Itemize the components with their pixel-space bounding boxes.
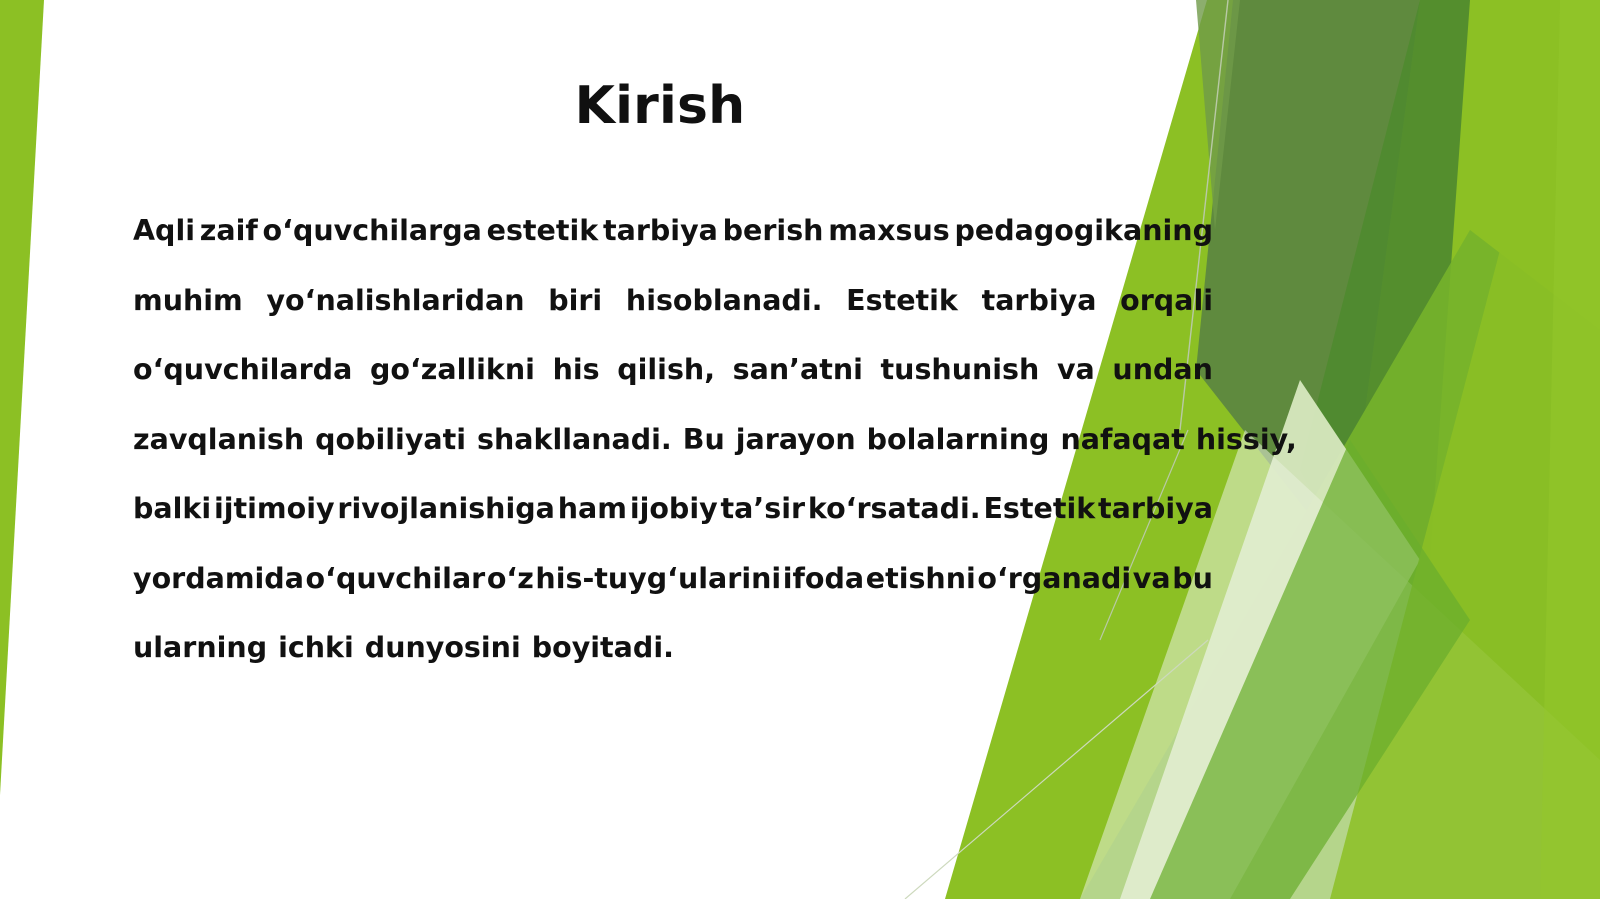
paragraph-word: maxsus (828, 212, 950, 250)
page-title: Kirish (0, 78, 1320, 135)
paragraph-word: rivojlanishiga (337, 490, 554, 528)
paragraph-word: etishni (866, 560, 976, 598)
slide-content: Kirish Aqlizaifo‘quvchilargaestetiktarbi… (0, 0, 1600, 899)
paragraph-line: o‘quvchilardago‘zalliknihisqilish,san’at… (133, 351, 1213, 421)
paragraph-word: jarayon (736, 421, 856, 459)
paragraph-word: va (1133, 560, 1171, 598)
paragraph-word: zaif (200, 212, 258, 250)
paragraph-word: estetik (487, 212, 599, 250)
paragraph-word: ichki (278, 629, 354, 667)
paragraph-word: muhim (133, 282, 243, 320)
paragraph-word: tarbiya (982, 282, 1097, 320)
paragraph-word: ham (558, 490, 627, 528)
paragraph-word: orqali (1120, 282, 1213, 320)
paragraph-word: yordamida (133, 560, 304, 598)
paragraph-word: o‘quvchilar (306, 560, 486, 598)
paragraph-word: pedagogikaning (955, 212, 1213, 250)
paragraph-word: o‘quvchilarga (263, 212, 482, 250)
paragraph-word: nafaqat (1060, 421, 1184, 459)
paragraph-word: hisoblanadi. (626, 282, 823, 320)
paragraph-word: undan (1112, 351, 1213, 389)
paragraph-line: balkiijtimoiyrivojlanishigahamijobiyta’s… (133, 490, 1213, 560)
presentation-slide: Kirish Aqlizaifo‘quvchilargaestetiktarbi… (0, 0, 1600, 899)
paragraph-word: Estetik (846, 282, 958, 320)
paragraph-word: ifoda (783, 560, 864, 598)
paragraph-word: qobiliyati (315, 421, 466, 459)
paragraph-word: o‘rganadi (977, 560, 1131, 598)
paragraph-word: berish (723, 212, 824, 250)
paragraph-word: hissiy, (1196, 421, 1297, 459)
paragraph-word: ijobiy (630, 490, 718, 528)
paragraph-word: Bu (683, 421, 725, 459)
paragraph-word: Aqli (133, 212, 195, 250)
paragraph-word: boyitadi. (532, 629, 674, 667)
paragraph-word: ta’sir (721, 490, 805, 528)
paragraph-word: biri (548, 282, 602, 320)
body-paragraph: Aqlizaifo‘quvchilargaestetiktarbiyaberis… (133, 212, 1213, 699)
paragraph-word: qilish, (617, 351, 715, 389)
paragraph-word: his-tuyg‘ularini (535, 560, 781, 598)
paragraph-word: va (1057, 351, 1095, 389)
paragraph-word: shakllanadi. (477, 421, 672, 459)
paragraph-line: muhimyo‘nalishlaridanbirihisoblanadi.Est… (133, 282, 1213, 352)
paragraph-word: his (553, 351, 600, 389)
paragraph-word: dunyosini (365, 629, 521, 667)
paragraph-line: Aqlizaifo‘quvchilargaestetiktarbiyaberis… (133, 212, 1213, 282)
paragraph-word: tarbiya (603, 212, 718, 250)
paragraph-word: o‘z (487, 560, 534, 598)
paragraph-line: zavqlanishqobiliyatishakllanadi.Bujarayo… (133, 421, 1213, 491)
paragraph-word: o‘quvchilarda (133, 351, 352, 389)
paragraph-word: ko‘rsatadi. (808, 490, 981, 528)
paragraph-word: san’atni (733, 351, 863, 389)
paragraph-word: bolalarning (867, 421, 1050, 459)
paragraph-word: tarbiya (1098, 490, 1213, 528)
paragraph-word: go‘zallikni (370, 351, 535, 389)
paragraph-line: ularningichkidunyosiniboyitadi. (133, 629, 1213, 699)
paragraph-word: zavqlanish (133, 421, 304, 459)
paragraph-line: yordamidao‘quvchilaro‘zhis-tuyg‘ularinii… (133, 560, 1213, 630)
paragraph-word: ularning (133, 629, 267, 667)
paragraph-word: Estetik (983, 490, 1095, 528)
paragraph-word: ijtimoiy (214, 490, 335, 528)
paragraph-word: bu (1172, 560, 1213, 598)
paragraph-word: balki (133, 490, 211, 528)
paragraph-word: tushunish (881, 351, 1040, 389)
paragraph-word: yo‘nalishlaridan (266, 282, 524, 320)
